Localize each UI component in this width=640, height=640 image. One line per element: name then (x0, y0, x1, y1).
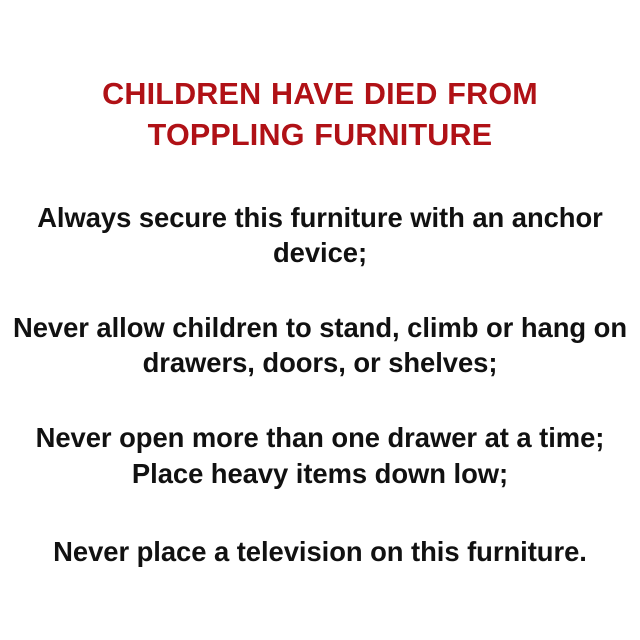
safety-instruction-list: Always secure this furniture with an anc… (10, 155, 630, 569)
instruction-item-no-television: Never place a television on this furnitu… (10, 534, 630, 569)
instruction-item-anchor-device: Always secure this furniture with an anc… (10, 200, 630, 270)
warning-heading: CHILDREN HAVE DIED FROM TOPPLING FURNITU… (10, 74, 630, 155)
instruction-item-one-drawer-heavy-low: Never open more than one drawer at a tim… (10, 420, 630, 490)
instruction-item-no-climbing: Never allow children to stand, climb or … (10, 310, 630, 380)
tip-over-warning-card: CHILDREN HAVE DIED FROM TOPPLING FURNITU… (0, 0, 640, 640)
